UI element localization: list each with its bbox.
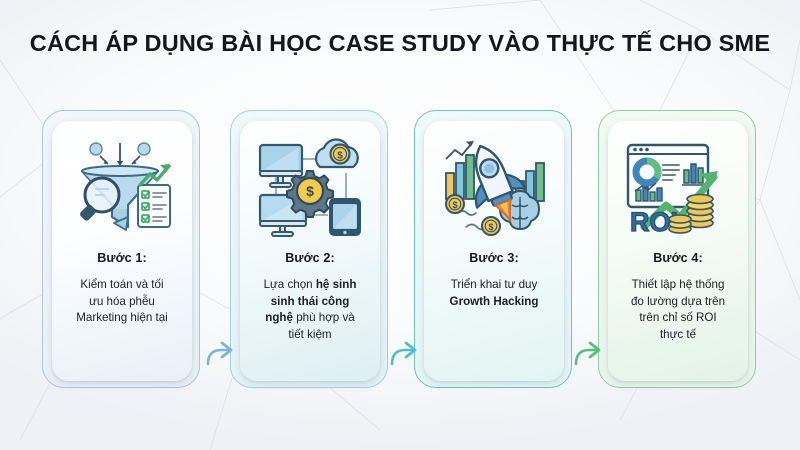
step-card-2[interactable]: $ $ Bước 2: [240, 121, 380, 381]
step-4-description: Thiết lập hệ thống đo lường dựa trên trê… [627, 277, 729, 343]
page-title: CÁCH ÁP DỤNG BÀI HỌC CASE STUDY VÀO THỰC… [0, 30, 800, 57]
step-card-4-frame[interactable]: ROI Bước 4: [598, 110, 756, 388]
svg-text:$: $ [337, 151, 343, 162]
step-2-line-1a: Lựa chọn [264, 278, 316, 291]
curved-arrow-right-icon [387, 336, 421, 370]
step-4-line-3: trên chỉ số ROI [639, 311, 716, 324]
step-2-line-3b: phù hợp và [293, 311, 355, 324]
step-card-1-frame[interactable]: Bước 1: Kiểm toán và tối ưu hóa phễu Mar… [42, 110, 200, 388]
curved-arrow-right-icon [571, 336, 605, 370]
step-3-description: Triển khai tư duy Growth Hacking [446, 277, 543, 310]
step-3-label: Bước 3: [469, 251, 519, 265]
rocket-brain-chart-icon: $ $ [435, 133, 553, 241]
step-2-line-3a: nghệ [265, 311, 293, 324]
funnel-magnifier-checklist-icon [63, 133, 181, 241]
svg-text:$: $ [306, 183, 314, 199]
step-1-description: Kiểm toán và tối ưu hóa phễu Marketing h… [72, 277, 172, 327]
svg-text:$: $ [488, 222, 493, 232]
step-3-line-1: Triển khai tư duy [451, 278, 538, 291]
infographic-canvas: CÁCH ÁP DỤNG BÀI HỌC CASE STUDY VÀO THỰC… [0, 0, 800, 450]
step-2-line-2: sinh thái công [271, 295, 350, 308]
step-2-label: Bước 2: [285, 251, 335, 265]
step-card-3[interactable]: $ $ Bước 3: Triển khai tư duy Growth Hac… [424, 121, 564, 381]
step-card-3-frame[interactable]: $ $ Bước 3: Triển khai tư duy Growth Hac… [414, 110, 572, 388]
svg-text:$: $ [452, 200, 457, 210]
step-card-1[interactable]: Bước 1: Kiểm toán và tối ưu hóa phễu Mar… [52, 121, 192, 381]
step-card-2-frame[interactable]: $ $ Bước 2: [230, 110, 388, 388]
curved-arrow-right-icon [203, 336, 237, 370]
steps-row: Bước 1: Kiểm toán và tối ưu hóa phễu Mar… [0, 110, 800, 400]
step-2-description: Lựa chọn hệ sinh sinh thái công nghệ phù… [260, 277, 361, 343]
step-3-line-2: Growth Hacking [450, 295, 539, 308]
step-4-line-4: thực tế [660, 328, 696, 341]
step-4-line-1: Thiết lập hệ thống [632, 278, 725, 291]
tech-ecosystem-devices-cloud-gear-icon: $ $ [251, 133, 369, 241]
step-4-label: Bước 4: [653, 251, 703, 265]
step-4-line-2: đo lường dựa trên [631, 295, 725, 308]
step-1-label: Bước 1: [97, 251, 147, 265]
step-2-line-4: tiết kiệm [288, 328, 331, 341]
step-1-line-3: Marketing hiện tại [76, 311, 168, 324]
step-card-4[interactable]: ROI Bước 4: [608, 121, 748, 381]
step-1-line-2: ưu hóa phễu [89, 295, 155, 308]
step-1-line-1: Kiểm toán và tối [80, 278, 163, 291]
step-2-line-1b: hệ sinh [316, 278, 357, 291]
roi-dashboard-coins-icon: ROI [619, 133, 737, 241]
